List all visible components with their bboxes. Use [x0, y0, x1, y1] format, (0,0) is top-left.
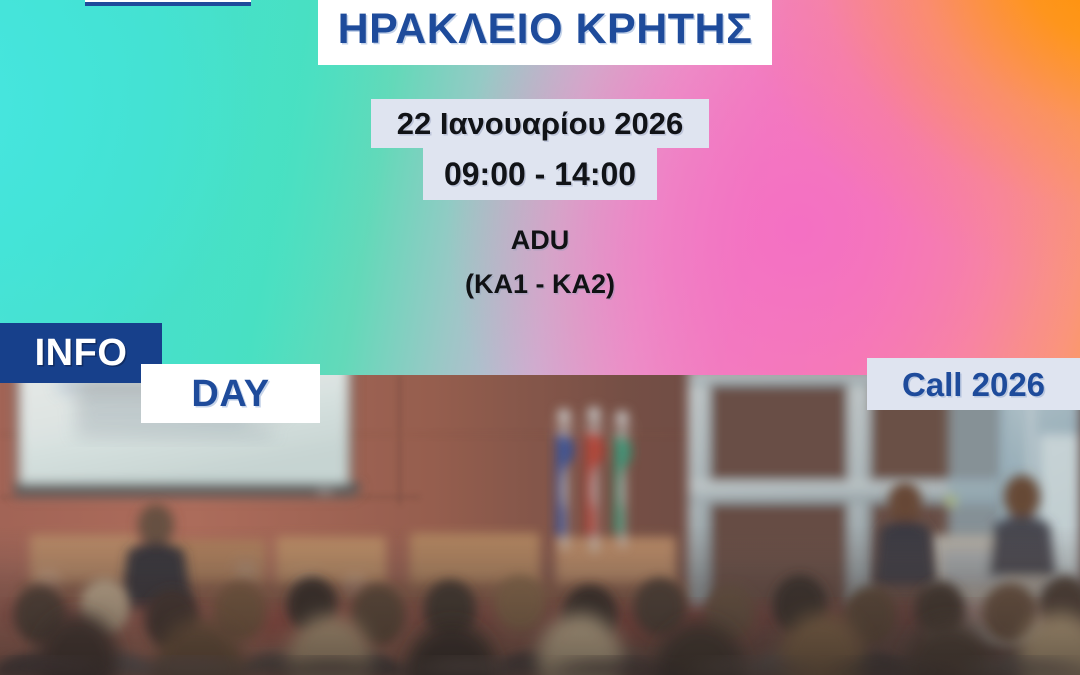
city-title-panel: ΗΡΑΚΛΕΙΟ ΚΡΗΤΗΣ — [318, 0, 772, 65]
venue-block: ADU (KA1 - KA2) — [0, 218, 1080, 306]
event-time-panel: 09:00 - 14:00 — [423, 148, 657, 200]
event-date: 22 Ιανουαρίου 2026 — [397, 108, 683, 139]
page-title: ΗΡΑΚΛΕΙΟ ΚΡΗΤΗΣ — [338, 0, 753, 51]
logo-badge-cropped — [85, 0, 251, 6]
event-time: 09:00 - 14:00 — [444, 158, 636, 190]
day-badge-label: DAY — [191, 375, 269, 413]
call-badge-label: Call 2026 — [902, 368, 1045, 401]
info-badge-label: INFO — [35, 334, 128, 372]
event-date-panel: 22 Ιανουαρίου 2026 — [371, 99, 709, 148]
call-badge: Call 2026 — [867, 358, 1080, 410]
event-poster: ΗΡΑΚΛΕΙΟ ΚΡΗΤΗΣ 22 Ιανουαρίου 2026 09:00… — [0, 0, 1080, 675]
venue-name: ADU — [0, 218, 1080, 262]
day-badge: DAY — [141, 364, 320, 423]
info-badge: INFO — [0, 323, 162, 383]
venue-action-codes: (KA1 - KA2) — [0, 262, 1080, 306]
